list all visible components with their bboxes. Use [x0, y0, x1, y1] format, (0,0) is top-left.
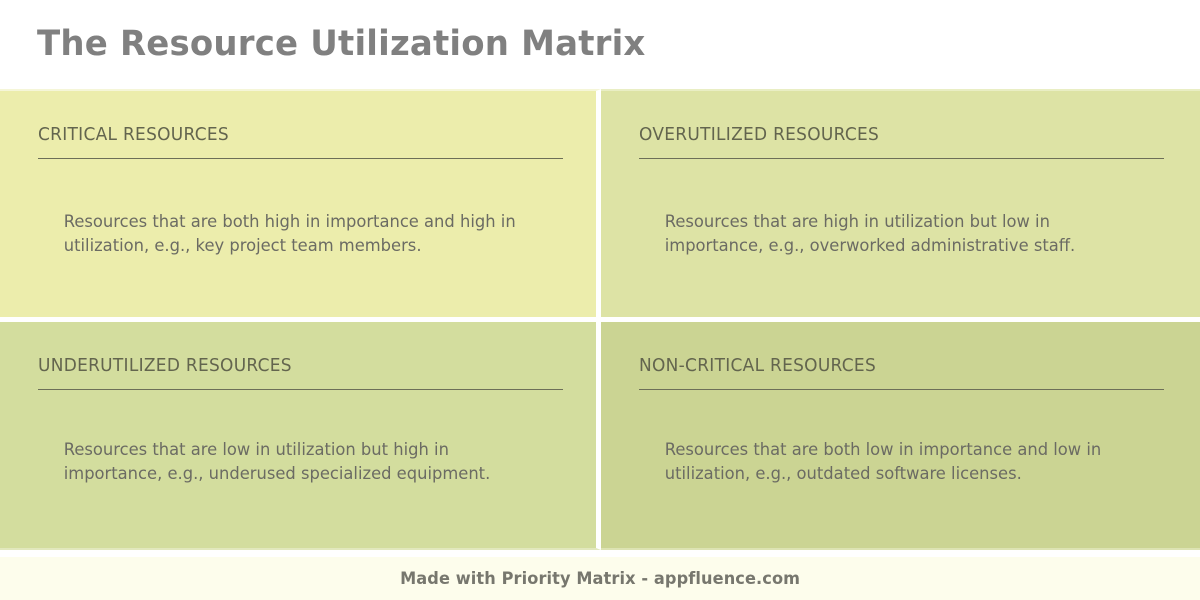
quadrant-matrix: CRITICAL RESOURCES Resources that are bo…: [0, 89, 1200, 550]
quadrant-body-critical-resources: Resources that are both high in importan…: [38, 159, 529, 257]
quadrant-critical-resources[interactable]: CRITICAL RESOURCES Resources that are bo…: [0, 89, 601, 322]
quadrant-non-critical-resources[interactable]: NON-CRITICAL RESOURCES Resources that ar…: [601, 322, 1200, 550]
page-footer: Made with Priority Matrix - appfluence.c…: [0, 550, 1200, 600]
quadrant-body-overutilized-resources: Resources that are high in utilization b…: [639, 159, 1122, 257]
quadrant-heading-underutilized-resources: UNDERUTILIZED RESOURCES: [38, 356, 542, 389]
quadrant-heading-overutilized-resources: OVERUTILIZED RESOURCES: [639, 125, 1146, 158]
quadrant-heading-non-critical-resources: NON-CRITICAL RESOURCES: [639, 356, 1146, 389]
quadrant-overutilized-resources[interactable]: OVERUTILIZED RESOURCES Resources that ar…: [601, 89, 1200, 322]
quadrant-heading-critical-resources: CRITICAL RESOURCES: [38, 125, 542, 158]
quadrant-body-non-critical-resources: Resources that are both low in importanc…: [639, 390, 1122, 485]
page-title: The Resource Utilization Matrix: [37, 25, 646, 64]
quadrant-body-underutilized-resources: Resources that are low in utilization bu…: [38, 390, 529, 485]
quadrant-underutilized-resources[interactable]: UNDERUTILIZED RESOURCES Resources that a…: [0, 322, 601, 550]
footer-attribution[interactable]: Made with Priority Matrix - appfluence.c…: [400, 569, 800, 588]
page-header: The Resource Utilization Matrix: [0, 0, 1200, 89]
matrix-page: The Resource Utilization Matrix CRITICAL…: [0, 0, 1200, 600]
